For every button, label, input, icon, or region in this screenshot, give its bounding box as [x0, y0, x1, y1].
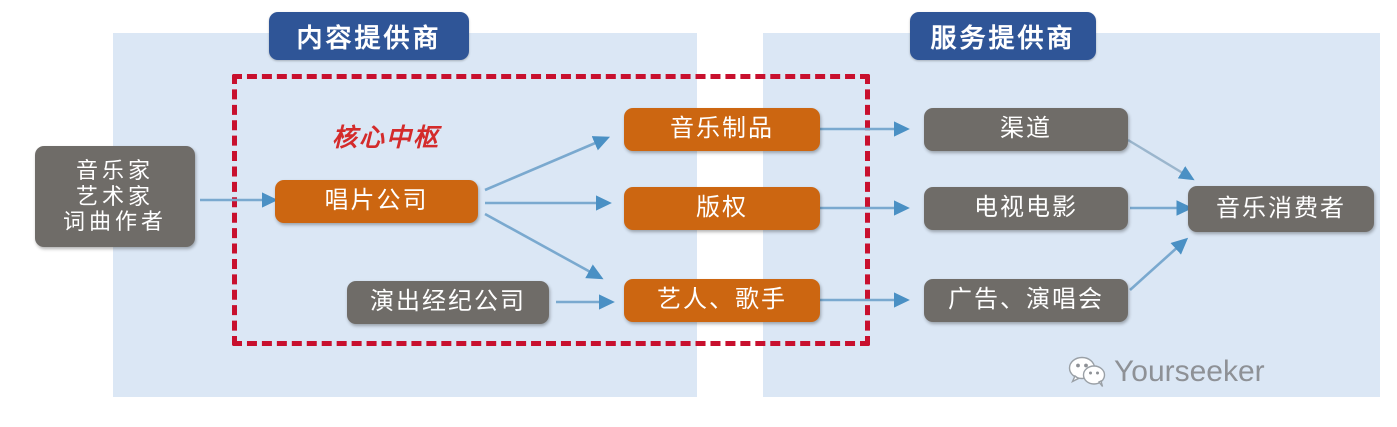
wechat-icon [1068, 356, 1106, 388]
node-music-products-label: 音乐制品 [670, 115, 774, 143]
diagram-canvas: 内容提供商 服务提供商 核心中枢 音乐家 艺术家 词曲作者 唱片公司 演出经纪公… [0, 0, 1397, 427]
section-header-service-provider: 服务提供商 [910, 12, 1096, 60]
node-performance-agency: 演出经纪公司 [347, 281, 549, 324]
node-performance-agency-label: 演出经纪公司 [370, 288, 526, 316]
section-header-label: 内容提供商 [296, 18, 441, 55]
core-hub-label: 核心中枢 [332, 118, 440, 154]
node-ads-concerts-label: 广告、演唱会 [948, 286, 1104, 314]
node-copyright: 版权 [624, 187, 820, 230]
node-creators-line-3: 词曲作者 [63, 209, 167, 235]
node-channels: 渠道 [924, 108, 1128, 151]
node-creators: 音乐家 艺术家 词曲作者 [35, 146, 195, 247]
node-artists-singers-label: 艺人、歌手 [657, 286, 787, 314]
watermark-text: Yourseeker [1114, 355, 1265, 389]
section-header-label: 服务提供商 [930, 18, 1075, 55]
node-tv-film: 电视电影 [924, 187, 1128, 230]
node-creators-line-1: 音乐家 [76, 158, 154, 184]
node-artists-singers: 艺人、歌手 [624, 279, 820, 322]
node-tv-film-label: 电视电影 [974, 194, 1078, 222]
watermark: Yourseeker [1068, 355, 1265, 389]
node-music-products: 音乐制品 [624, 108, 820, 151]
node-copyright-label: 版权 [696, 194, 748, 222]
node-record-company-label: 唱片公司 [325, 187, 429, 215]
section-header-content-provider: 内容提供商 [269, 12, 469, 60]
node-ads-concerts: 广告、演唱会 [924, 279, 1128, 322]
node-creators-line-2: 艺术家 [76, 184, 154, 210]
node-record-company: 唱片公司 [275, 180, 478, 223]
node-music-consumers: 音乐消费者 [1188, 186, 1374, 232]
node-channels-label: 渠道 [1000, 115, 1052, 143]
node-music-consumers-label: 音乐消费者 [1216, 195, 1346, 223]
